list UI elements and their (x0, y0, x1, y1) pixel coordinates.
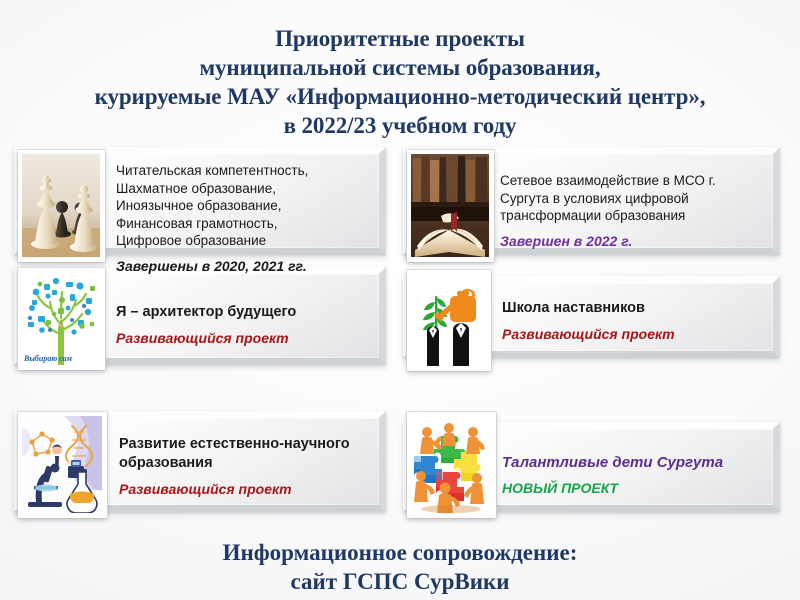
microscope-lab-illustration (18, 412, 107, 518)
slide-canvas: Приоритетные проекты муниципальной систе… (0, 0, 800, 600)
project-list: Читательская компетентность, Шахматное о… (116, 162, 374, 250)
project-title: Развитие естественно-научного образовани… (119, 435, 379, 473)
mentor-watering-icon (411, 274, 486, 366)
open-books-photo (407, 150, 494, 262)
project-title: Я – архитектор будущего (116, 303, 376, 322)
page-title: Приоритетные проекты муниципальной систе… (0, 24, 800, 140)
project-title: Талантливые дети Сургута (502, 453, 772, 472)
project-list: Сетевое взаимодействие в МСО г. Сургута … (500, 172, 768, 225)
chess-pieces-icon (22, 154, 100, 257)
watering-can-mentors-illustration (407, 270, 491, 371)
open-books-icon (411, 154, 489, 257)
puzzle-teamwork-icon (411, 416, 491, 513)
image-caption: Выбираю сам (24, 354, 72, 363)
footer-text: Информационное сопровождение: сайт ГСПС … (0, 538, 800, 596)
project-status: НОВЫЙ ПРОЕКТ (502, 479, 772, 498)
project-status: Завершены в 2020, 2021 гг. (116, 257, 374, 276)
icon-tree-illustration: Выбираю сам (18, 268, 105, 370)
project-status: Развивающийся проект (502, 325, 767, 344)
chess-pieces-photo (18, 150, 105, 262)
project-status: Развивающийся проект (116, 329, 376, 348)
science-lab-icon (22, 416, 102, 513)
project-status: Завершен в 2022 г. (500, 232, 768, 251)
idea-tree-icon (22, 272, 100, 365)
puzzle-people-illustration (407, 412, 496, 518)
project-status: Развивающийся проект (119, 480, 379, 499)
project-title: Школа наставников (502, 299, 767, 318)
